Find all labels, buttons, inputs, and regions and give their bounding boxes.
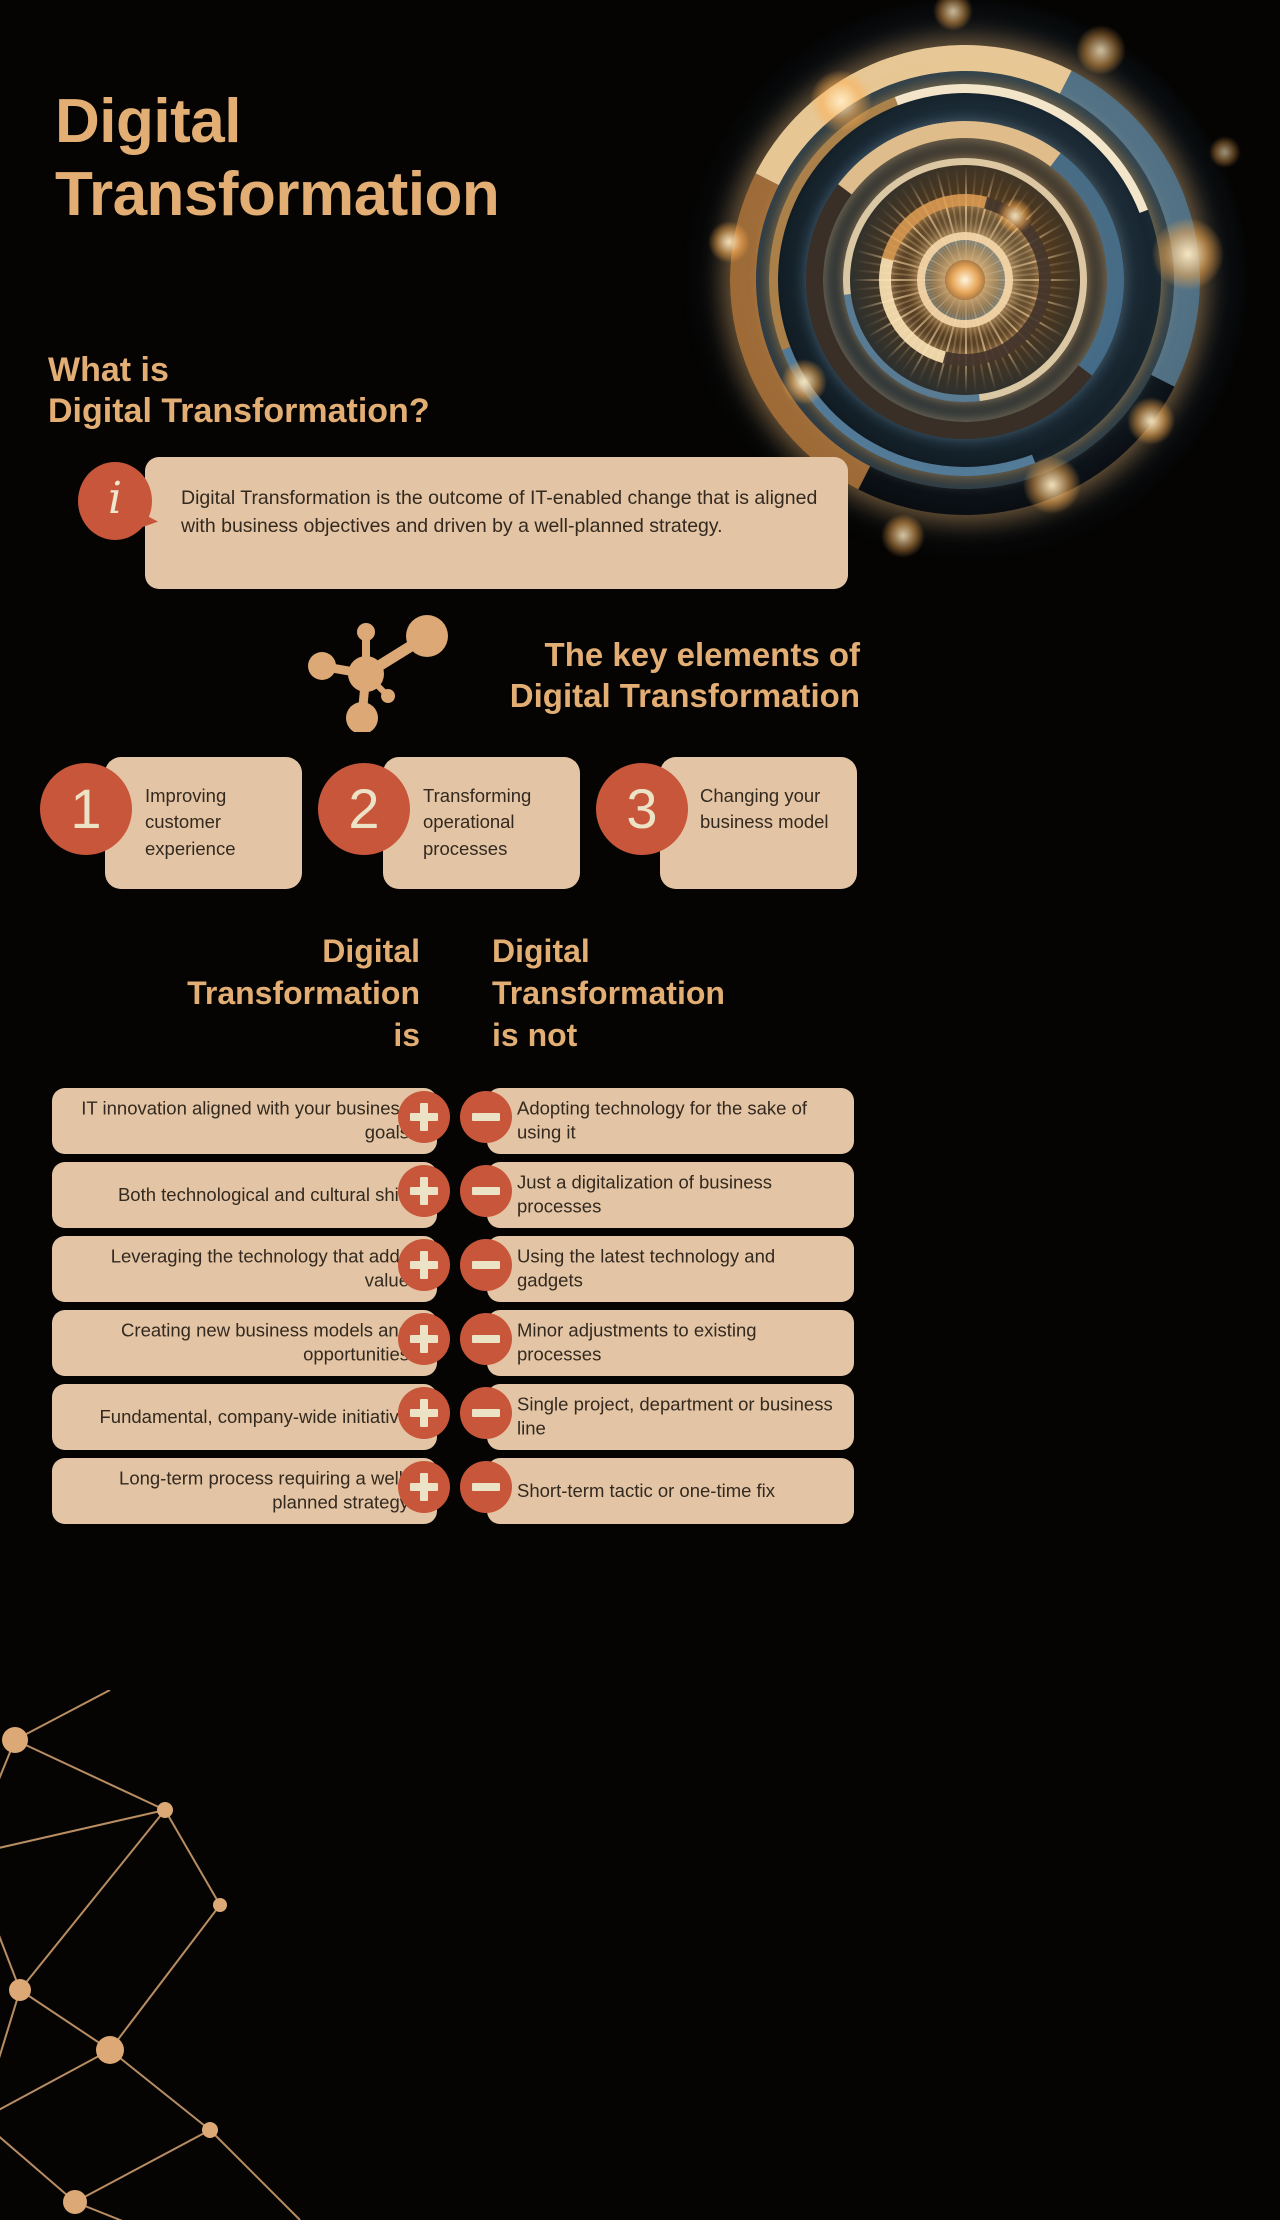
comparison-heading-is-not-line-1: Digital (492, 933, 590, 969)
minus-icon (460, 1091, 512, 1143)
comparison-heading-is-line-3: is (393, 1017, 420, 1053)
comparison-rows: IT innovation aligned with your business… (0, 1088, 1280, 1532)
comparison-is-not-text: Just a digitalization of business proces… (517, 1171, 844, 1220)
comparison-row: IT innovation aligned with your business… (0, 1088, 1280, 1162)
plus-icon (398, 1239, 450, 1291)
comparison-row: Creating new business models and opportu… (0, 1310, 1280, 1384)
hero-ring-3 (785, 100, 1144, 459)
comparison-is-pill: Fundamental, company-wide initiative (52, 1384, 437, 1450)
info-glyph: i (78, 462, 152, 540)
key-elements-heading: The key elements of Digital Transformati… (400, 634, 860, 717)
hero-ring-4 (794, 109, 1136, 451)
comparison-is-not-text: Adopting technology for the sake of usin… (517, 1097, 844, 1146)
key-element-card-2: Transforming operational processes (383, 757, 580, 889)
definition-callout: Digital Transformation is the outcome of… (145, 457, 848, 589)
key-element-card-1: Improving customer experience (105, 757, 302, 889)
comparison-is-not-text: Single project, department or business l… (517, 1393, 844, 1442)
key-element-card-3: Changing your business model (660, 757, 857, 889)
comparison-is-text: Long-term process requiring a well-plann… (66, 1467, 409, 1516)
hero-ring-6 (917, 232, 1013, 328)
plus-icon (398, 1313, 450, 1365)
minus-icon (460, 1165, 512, 1217)
plus-icon (398, 1461, 450, 1513)
comparison-is-text: Fundamental, company-wide initiative (66, 1405, 409, 1429)
comparison-is-not-pill: Using the latest technology and gadgets (487, 1236, 854, 1302)
comparison-row: Fundamental, company-wide initiativeSing… (0, 1384, 1280, 1458)
minus-icon (460, 1461, 512, 1513)
key-element-card-1-text: Improving customer experience (145, 783, 292, 862)
comparison-is-pill: Creating new business models and opportu… (52, 1310, 437, 1376)
key-elements-heading-line-2: Digital Transformation (510, 677, 860, 714)
hero-tick-marks (750, 65, 1180, 495)
key-elements-heading-line-1: The key elements of (545, 636, 860, 673)
comparison-heading-is-line-2: Transformation (187, 975, 420, 1011)
plus-icon (398, 1165, 450, 1217)
title-line-2: Transformation (55, 158, 575, 231)
comparison-is-pill: Leveraging the technology that adds valu… (52, 1236, 437, 1302)
question-heading: What is Digital Transformation? (48, 350, 568, 433)
key-element-number-2: 2 (318, 763, 410, 855)
comparison-row: Leveraging the technology that adds valu… (0, 1236, 1280, 1310)
minus-icon (460, 1313, 512, 1365)
key-element-card-2-text: Transforming operational processes (423, 783, 570, 862)
comparison-is-not-pill: Single project, department or business l… (487, 1384, 854, 1450)
comparison-is-pill: Long-term process requiring a well-plann… (52, 1458, 437, 1524)
comparison-is-text: Both technological and cultural shift (66, 1183, 409, 1207)
question-heading-line-1: What is (48, 351, 169, 389)
comparison-is-text: Creating new business models and opportu… (66, 1319, 409, 1368)
infographic-page: Digital Transformation What is Digital T… (0, 0, 1280, 2220)
comparison-is-text: Leveraging the technology that adds valu… (66, 1245, 409, 1294)
comparison-is-not-pill: Just a digitalization of business proces… (487, 1162, 854, 1228)
comparison-is-pill: IT innovation aligned with your business… (52, 1088, 437, 1154)
comparison-heading-is-not: Digital Transformation is not (492, 930, 822, 1057)
comparison-is-not-text: Using the latest technology and gadgets (517, 1245, 844, 1294)
network-decoration (0, 1690, 320, 2220)
plus-icon (398, 1387, 450, 1439)
title-line-1: Digital (55, 87, 241, 156)
comparison-heading-is-not-line-3: is not (492, 1017, 577, 1053)
comparison-is-not-text: Short-term tactic or one-time fix (517, 1479, 844, 1503)
comparison-heading-is-not-line-2: Transformation (492, 975, 725, 1011)
definition-text: Digital Transformation is the outcome of… (181, 485, 826, 540)
page-title: Digital Transformation (55, 85, 575, 231)
comparison-is-text: IT innovation aligned with your business… (66, 1097, 409, 1146)
comparison-is-not-pill: Adopting technology for the sake of usin… (487, 1088, 854, 1154)
info-i-icon: i (78, 462, 152, 540)
hero-hub (945, 260, 985, 300)
minus-icon (460, 1239, 512, 1291)
key-element-number-1: 1 (40, 763, 132, 855)
comparison-heading-is-line-1: Digital (322, 933, 420, 969)
key-element-card-3-text: Changing your business model (700, 783, 847, 836)
comparison-is-not-pill: Short-term tactic or one-time fix (487, 1458, 854, 1524)
plus-icon (398, 1091, 450, 1143)
key-elements-cards: Improving customer experience Transformi… (0, 745, 1280, 905)
key-element-number-3: 3 (596, 763, 688, 855)
comparison-row: Long-term process requiring a well-plann… (0, 1458, 1280, 1532)
comparison-is-not-text: Minor adjustments to existing processes (517, 1319, 844, 1368)
comparison-heading-is: Digital Transformation is (140, 930, 420, 1057)
comparison-is-not-pill: Minor adjustments to existing processes (487, 1310, 854, 1376)
hero-ring-5 (848, 163, 1083, 398)
question-heading-line-2: Digital Transformation? (48, 392, 430, 430)
comparison-row: Both technological and cultural shiftJus… (0, 1162, 1280, 1236)
minus-icon (460, 1387, 512, 1439)
comparison-is-pill: Both technological and cultural shift (52, 1162, 437, 1228)
